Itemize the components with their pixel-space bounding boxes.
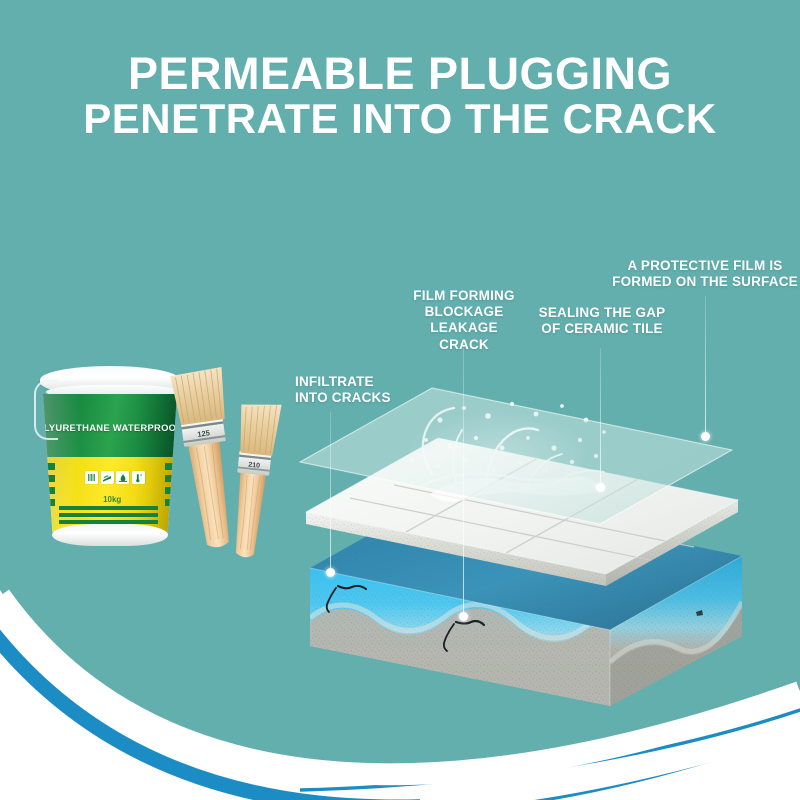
leader-line-film: [463, 340, 464, 618]
leader-dot-seal: [596, 483, 605, 492]
bucket-base: [52, 524, 168, 546]
bucket-handle: [34, 380, 58, 440]
title-line-1: Permeable Plugging: [0, 52, 800, 95]
bucket-body: LYURETHANE WATERPROO: [43, 394, 177, 532]
callout-infiltrate-into-cracks: Infiltrate into cracks: [295, 374, 415, 406]
bucket-left-tabs: [45, 463, 55, 511]
callout-film-forming-blockage: Film forming blockage leakage crack: [404, 288, 524, 353]
leader-dot-film: [459, 612, 468, 621]
water-droplet-icon: [116, 471, 129, 484]
temperature-glyph: [133, 473, 143, 483]
infographic-canvas: Permeable Plugging Penetrate Into The Cr…: [0, 0, 800, 800]
leader-line-protect: [705, 296, 706, 438]
paint-brush-large: 125: [170, 367, 246, 551]
brush-application-glyph: [102, 473, 112, 483]
bucket-lid: [40, 366, 180, 396]
page-title: Permeable Plugging Penetrate Into The Cr…: [0, 52, 800, 140]
title-line-2: Penetrate Into The Crack: [0, 99, 800, 139]
paint-brushes: 125 210: [160, 368, 288, 564]
callout-sealing-the-gap: Sealing the gap of ceramic tile: [538, 305, 666, 337]
leader-line-infiltrate: [330, 412, 331, 574]
brush-small-band-text: 210: [248, 462, 260, 470]
product-label-text: LYURETHANE WATERPROO: [43, 422, 177, 433]
rain-resistance-glyph: [87, 473, 97, 483]
water-droplet-glyph: [118, 473, 128, 483]
layer-diagram: [280, 390, 760, 720]
paint-brush-small: 210: [226, 401, 282, 560]
leader-dot-protect: [701, 432, 710, 441]
product-weight-text: 10kg: [103, 495, 121, 504]
brush-application-icon: [101, 471, 114, 484]
temperature-icon: [132, 471, 145, 484]
product-icon-row: [85, 471, 145, 484]
callout-protective-film: A protective film is formed on the surfa…: [612, 258, 798, 290]
rain-resistance-icon: [85, 471, 98, 484]
brush-large-band-text: 125: [197, 428, 211, 439]
leader-line-seal: [600, 348, 601, 489]
leader-dot-infiltrate: [326, 568, 335, 577]
